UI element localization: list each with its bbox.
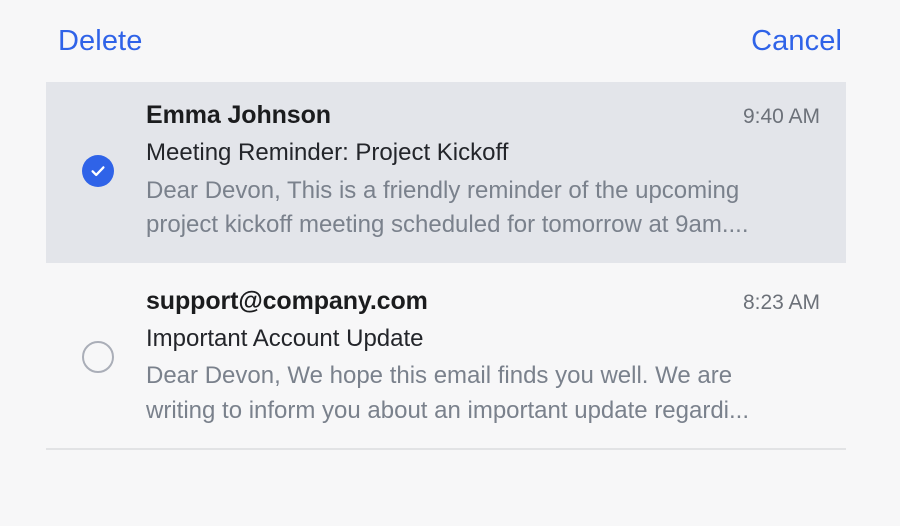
email-preview: Dear Devon, We hope this email finds you… bbox=[146, 359, 796, 428]
check-circle-filled-icon[interactable] bbox=[82, 155, 114, 187]
list-divider bbox=[46, 448, 846, 450]
email-list-item[interactable]: Emma Johnson 9:40 AM Meeting Reminder: P… bbox=[46, 82, 846, 263]
email-list: Emma Johnson 9:40 AM Meeting Reminder: P… bbox=[0, 82, 900, 450]
cancel-button[interactable]: Cancel bbox=[751, 27, 842, 56]
email-list-item[interactable]: support@company.com 8:23 AM Important Ac… bbox=[46, 268, 846, 449]
selection-checkbox-cell[interactable] bbox=[46, 100, 146, 243]
email-content: support@company.com 8:23 AM Important Ac… bbox=[146, 286, 846, 429]
email-content: Emma Johnson 9:40 AM Meeting Reminder: P… bbox=[146, 100, 846, 243]
circle-outline-icon[interactable] bbox=[82, 341, 114, 373]
selection-toolbar: Delete Cancel bbox=[0, 0, 900, 82]
email-sender: Emma Johnson bbox=[146, 100, 331, 131]
email-preview: Dear Devon, This is a friendly reminder … bbox=[146, 174, 796, 243]
email-selection-screen: Delete Cancel Emma Johnson 9:40 AM Meeti… bbox=[0, 0, 900, 526]
email-timestamp: 8:23 AM bbox=[743, 290, 820, 316]
email-header-row: support@company.com 8:23 AM bbox=[146, 286, 820, 317]
email-timestamp: 9:40 AM bbox=[743, 104, 820, 130]
email-subject: Meeting Reminder: Project Kickoff bbox=[146, 138, 820, 167]
email-subject: Important Account Update bbox=[146, 324, 820, 353]
email-sender: support@company.com bbox=[146, 286, 428, 317]
delete-button[interactable]: Delete bbox=[58, 27, 142, 56]
email-header-row: Emma Johnson 9:40 AM bbox=[146, 100, 820, 131]
selection-checkbox-cell[interactable] bbox=[46, 286, 146, 429]
